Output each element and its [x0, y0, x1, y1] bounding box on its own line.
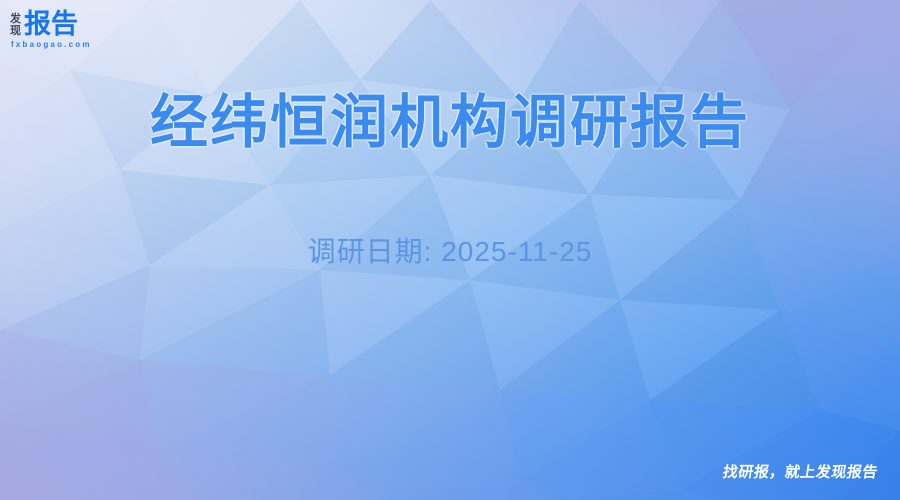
page-title: 经纬恒润机构调研报告: [0, 88, 900, 158]
logo-mark-faxian: 发 现: [10, 12, 21, 37]
fxbaogao-logo[interactable]: 发 现 报告 fxbaogao.com: [10, 10, 92, 50]
logo-mark-char-top: 发: [10, 13, 21, 25]
logo-wordmark-row: 发 现 报告: [10, 10, 78, 38]
report-cover-page: 发 现 报告 fxbaogao.com 经纬恒润机构调研报告 调研日期: 202…: [0, 0, 900, 500]
logo-url: fxbaogao.com: [11, 40, 92, 50]
logo-mark-char-bottom: 现: [10, 25, 21, 37]
logo-wordmark: 报告: [24, 10, 78, 38]
footer-slogan: 找研报，就上发现报告: [721, 461, 879, 482]
title-block: 经纬恒润机构调研报告: [0, 88, 900, 158]
subtitle-block: 调研日期: 2025-11-25: [0, 234, 900, 270]
survey-date-label: 调研日期: 2025-11-25: [0, 234, 900, 270]
